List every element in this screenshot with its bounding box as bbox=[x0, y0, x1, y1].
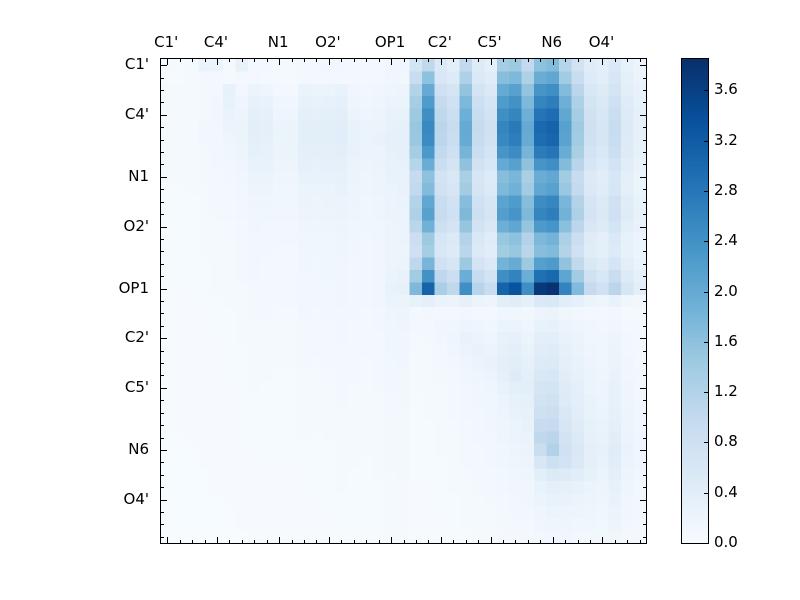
x-tick bbox=[404, 540, 405, 544]
x-tick bbox=[491, 537, 492, 544]
y-tick bbox=[640, 338, 647, 339]
y-tick bbox=[643, 375, 647, 376]
y-tick bbox=[160, 189, 164, 190]
x-tick bbox=[503, 540, 504, 544]
y-tick bbox=[643, 425, 647, 426]
y-tick bbox=[643, 189, 647, 190]
x-tick bbox=[254, 58, 255, 62]
x-tick bbox=[292, 58, 293, 62]
x-tick bbox=[615, 58, 616, 62]
x-tick bbox=[391, 537, 392, 544]
y-tick bbox=[160, 487, 164, 488]
y-tick bbox=[643, 351, 647, 352]
x-tick bbox=[366, 58, 367, 62]
x-tick bbox=[180, 58, 181, 62]
x-tick bbox=[553, 58, 554, 65]
x-tick bbox=[167, 537, 168, 544]
x-tick bbox=[627, 58, 628, 62]
x-tick bbox=[441, 58, 442, 65]
y-tick bbox=[160, 363, 164, 364]
x-tick bbox=[640, 540, 641, 544]
colorbar-tick-label: 2.8 bbox=[714, 181, 738, 199]
y-tick bbox=[160, 413, 164, 414]
x-tick-label: O4' bbox=[589, 33, 614, 51]
x-tick-label: N1 bbox=[268, 33, 289, 51]
y-tick bbox=[160, 375, 164, 376]
x-tick bbox=[254, 540, 255, 544]
y-tick bbox=[160, 264, 164, 265]
x-tick-label: O2' bbox=[315, 33, 340, 51]
x-tick bbox=[528, 540, 529, 544]
x-tick bbox=[304, 540, 305, 544]
y-tick bbox=[160, 65, 167, 66]
y-tick bbox=[643, 127, 647, 128]
y-tick bbox=[160, 524, 164, 525]
y-tick bbox=[160, 500, 167, 501]
y-tick-label: O4' bbox=[124, 490, 149, 508]
y-tick-label: C1' bbox=[125, 55, 149, 73]
colorbar-tick bbox=[704, 442, 709, 443]
x-tick bbox=[553, 537, 554, 544]
x-tick bbox=[354, 540, 355, 544]
y-tick bbox=[643, 400, 647, 401]
y-tick bbox=[160, 351, 164, 352]
y-tick bbox=[160, 289, 167, 290]
y-tick bbox=[643, 438, 647, 439]
figure-canvas: C1'C4'N1O2'OP1C2'C5'N6O4' C1'C4'N1O2'OP1… bbox=[0, 0, 800, 600]
y-tick bbox=[640, 450, 647, 451]
x-tick bbox=[503, 58, 504, 62]
y-tick bbox=[643, 239, 647, 240]
y-tick bbox=[643, 276, 647, 277]
y-tick bbox=[160, 78, 164, 79]
colorbar-tick bbox=[704, 292, 709, 293]
y-tick bbox=[160, 512, 164, 513]
x-tick bbox=[354, 58, 355, 62]
x-tick bbox=[615, 540, 616, 544]
x-tick bbox=[602, 58, 603, 65]
heatmap-image bbox=[161, 59, 646, 543]
x-tick bbox=[267, 540, 268, 544]
x-tick bbox=[229, 540, 230, 544]
x-tick bbox=[379, 540, 380, 544]
x-tick bbox=[192, 540, 193, 544]
y-tick bbox=[643, 524, 647, 525]
y-tick bbox=[643, 313, 647, 314]
x-tick bbox=[478, 540, 479, 544]
y-tick bbox=[160, 115, 167, 116]
y-tick bbox=[643, 90, 647, 91]
y-tick bbox=[160, 450, 167, 451]
x-tick bbox=[528, 58, 529, 62]
y-tick bbox=[643, 512, 647, 513]
colorbar-tick-label: 2.0 bbox=[714, 282, 738, 300]
y-tick bbox=[160, 475, 164, 476]
x-tick bbox=[217, 537, 218, 544]
y-tick-label: C4' bbox=[125, 105, 149, 123]
y-tick bbox=[160, 251, 164, 252]
colorbar-tick bbox=[704, 392, 709, 393]
y-tick bbox=[640, 289, 647, 290]
y-tick bbox=[643, 475, 647, 476]
heatmap-axes[interactable] bbox=[160, 58, 647, 544]
x-tick bbox=[441, 537, 442, 544]
y-tick bbox=[160, 214, 164, 215]
x-tick bbox=[491, 58, 492, 65]
x-tick bbox=[466, 540, 467, 544]
y-tick bbox=[160, 164, 164, 165]
x-tick bbox=[341, 58, 342, 62]
x-tick bbox=[515, 58, 516, 62]
y-tick bbox=[643, 363, 647, 364]
y-tick bbox=[160, 400, 164, 401]
y-tick bbox=[643, 251, 647, 252]
x-tick bbox=[404, 58, 405, 62]
x-tick bbox=[540, 540, 541, 544]
x-tick bbox=[578, 540, 579, 544]
y-tick bbox=[640, 177, 647, 178]
x-tick bbox=[453, 540, 454, 544]
y-tick bbox=[160, 326, 164, 327]
y-tick bbox=[643, 202, 647, 203]
colorbar-tick bbox=[704, 191, 709, 192]
x-tick bbox=[590, 540, 591, 544]
x-tick-label: C1' bbox=[154, 33, 178, 51]
x-tick bbox=[565, 540, 566, 544]
y-tick bbox=[640, 388, 647, 389]
colorbar-tick bbox=[704, 90, 709, 91]
colorbar-tick-label: 2.4 bbox=[714, 231, 738, 249]
y-tick bbox=[160, 140, 164, 141]
y-tick bbox=[640, 65, 647, 66]
x-tick-label: C4' bbox=[204, 33, 228, 51]
x-tick bbox=[366, 540, 367, 544]
y-tick bbox=[160, 152, 164, 153]
x-tick bbox=[316, 540, 317, 544]
x-tick bbox=[478, 58, 479, 62]
y-tick bbox=[643, 214, 647, 215]
x-tick bbox=[602, 537, 603, 544]
x-tick bbox=[453, 58, 454, 62]
colorbar-tick-label: 3.2 bbox=[714, 131, 738, 149]
y-tick bbox=[643, 537, 647, 538]
y-tick bbox=[643, 78, 647, 79]
y-tick bbox=[160, 202, 164, 203]
x-tick bbox=[304, 58, 305, 62]
x-tick bbox=[192, 58, 193, 62]
y-tick bbox=[160, 177, 167, 178]
x-tick bbox=[292, 540, 293, 544]
colorbar-tick bbox=[704, 543, 709, 544]
x-tick bbox=[167, 58, 168, 65]
y-tick-label: N1 bbox=[128, 167, 149, 185]
x-tick bbox=[279, 537, 280, 544]
x-tick bbox=[540, 58, 541, 62]
x-tick-label: C5' bbox=[477, 33, 501, 51]
x-tick bbox=[279, 58, 280, 65]
x-tick bbox=[229, 58, 230, 62]
x-tick bbox=[180, 540, 181, 544]
y-tick bbox=[640, 227, 647, 228]
y-tick bbox=[640, 500, 647, 501]
colorbar-tick-label: 1.6 bbox=[714, 332, 738, 350]
colorbar-tick bbox=[704, 141, 709, 142]
x-tick bbox=[515, 540, 516, 544]
colorbar-gradient bbox=[682, 59, 708, 543]
y-tick bbox=[160, 438, 164, 439]
x-tick bbox=[242, 540, 243, 544]
x-tick bbox=[267, 58, 268, 62]
x-tick bbox=[416, 540, 417, 544]
x-tick bbox=[578, 58, 579, 62]
colorbar-tick-label: 1.2 bbox=[714, 382, 738, 400]
x-tick-label: C2' bbox=[428, 33, 452, 51]
y-tick-label: OP1 bbox=[119, 279, 149, 297]
y-tick bbox=[643, 326, 647, 327]
y-tick bbox=[160, 388, 167, 389]
colorbar-tick bbox=[704, 493, 709, 494]
y-tick bbox=[643, 140, 647, 141]
x-tick bbox=[640, 58, 641, 62]
y-tick bbox=[160, 338, 167, 339]
colorbar-tick-label: 0.4 bbox=[714, 483, 738, 501]
colorbar-tick bbox=[704, 241, 709, 242]
x-tick bbox=[466, 58, 467, 62]
y-tick bbox=[160, 102, 164, 103]
x-tick bbox=[627, 540, 628, 544]
y-tick bbox=[160, 90, 164, 91]
x-tick bbox=[329, 58, 330, 65]
colorbar-axes[interactable] bbox=[681, 58, 709, 544]
y-tick bbox=[643, 462, 647, 463]
y-tick bbox=[160, 537, 164, 538]
y-tick-label: C2' bbox=[125, 328, 149, 346]
y-tick bbox=[160, 276, 164, 277]
y-tick bbox=[160, 127, 164, 128]
y-tick-label: N6 bbox=[128, 440, 149, 458]
colorbar-tick bbox=[704, 342, 709, 343]
x-tick bbox=[391, 58, 392, 65]
x-tick bbox=[205, 540, 206, 544]
y-tick bbox=[160, 425, 164, 426]
y-tick-label: C5' bbox=[125, 378, 149, 396]
colorbar-tick-label: 0.0 bbox=[714, 533, 738, 551]
y-tick bbox=[643, 152, 647, 153]
x-tick bbox=[565, 58, 566, 62]
x-tick bbox=[316, 58, 317, 62]
x-tick-label: N6 bbox=[541, 33, 562, 51]
x-tick bbox=[242, 58, 243, 62]
y-tick bbox=[643, 102, 647, 103]
y-tick bbox=[160, 239, 164, 240]
x-tick bbox=[428, 540, 429, 544]
y-tick bbox=[160, 301, 164, 302]
x-tick bbox=[379, 58, 380, 62]
y-tick-label: O2' bbox=[124, 217, 149, 235]
colorbar-tick-label: 0.8 bbox=[714, 432, 738, 450]
y-tick bbox=[160, 462, 164, 463]
x-tick bbox=[416, 58, 417, 62]
x-tick bbox=[428, 58, 429, 62]
x-tick bbox=[341, 540, 342, 544]
x-tick bbox=[217, 58, 218, 65]
y-tick bbox=[160, 227, 167, 228]
x-tick bbox=[205, 58, 206, 62]
y-tick bbox=[643, 301, 647, 302]
y-tick bbox=[640, 115, 647, 116]
colorbar-tick-label: 3.6 bbox=[714, 80, 738, 98]
y-tick bbox=[643, 164, 647, 165]
y-tick bbox=[643, 413, 647, 414]
x-tick-label: OP1 bbox=[375, 33, 405, 51]
x-tick bbox=[590, 58, 591, 62]
y-tick bbox=[160, 313, 164, 314]
y-tick bbox=[643, 264, 647, 265]
y-tick bbox=[643, 487, 647, 488]
x-tick bbox=[329, 537, 330, 544]
